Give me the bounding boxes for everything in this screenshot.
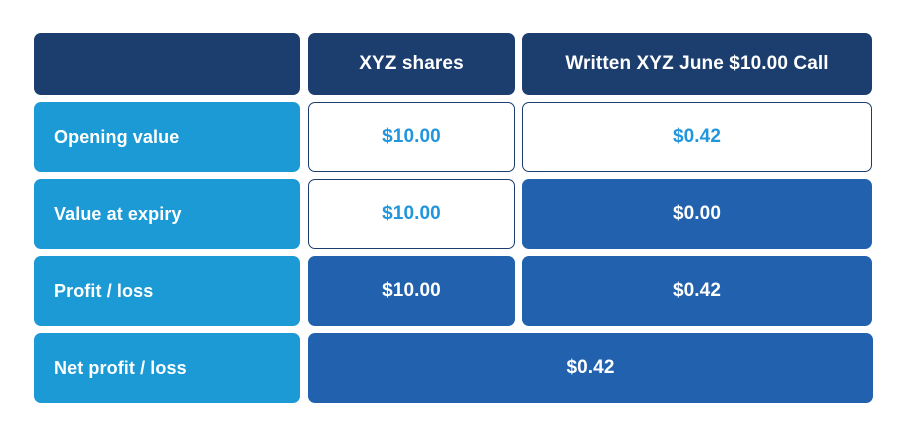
row-gap	[34, 326, 872, 333]
column-gap	[515, 256, 522, 326]
cell-value-at-expiry-shares: $10.00	[308, 179, 515, 249]
row-label-profit-loss: Profit / loss	[34, 256, 300, 326]
row-label-value-at-expiry: Value at expiry	[34, 179, 300, 249]
column-gap	[515, 102, 522, 172]
row-gap	[34, 172, 872, 179]
row-label-net-profit-loss: Net profit / loss	[34, 333, 300, 403]
column-gap	[300, 179, 308, 249]
header-cell-written-call: Written XYZ June $10.00 Call	[522, 33, 872, 95]
table-row: Opening value $10.00 $0.42	[34, 102, 872, 172]
cell-profit-loss-shares: $10.00	[308, 256, 515, 326]
table-row: Profit / loss $10.00 $0.42	[34, 256, 872, 326]
cell-opening-value-call: $0.42	[522, 102, 872, 172]
column-gap	[300, 33, 308, 95]
column-gap	[300, 102, 308, 172]
column-gap	[300, 256, 308, 326]
cell-net-profit-loss-merged: $0.42	[308, 333, 873, 403]
column-gap	[515, 33, 522, 95]
table-header-row: XYZ shares Written XYZ June $10.00 Call	[34, 33, 872, 95]
row-label-opening-value: Opening value	[34, 102, 300, 172]
header-cell-blank	[34, 33, 300, 95]
header-cell-xyz-shares: XYZ shares	[308, 33, 515, 95]
row-gap	[34, 249, 872, 256]
cell-profit-loss-call: $0.42	[522, 256, 872, 326]
cell-value-at-expiry-call: $0.00	[522, 179, 872, 249]
cell-opening-value-shares: $10.00	[308, 102, 515, 172]
column-gap	[300, 333, 308, 403]
row-gap	[34, 95, 872, 102]
table-row: Net profit / loss $0.42	[34, 333, 872, 403]
column-gap	[515, 179, 522, 249]
table-row: Value at expiry $10.00 $0.00	[34, 179, 872, 249]
profit-loss-table: XYZ shares Written XYZ June $10.00 Call …	[34, 33, 872, 398]
